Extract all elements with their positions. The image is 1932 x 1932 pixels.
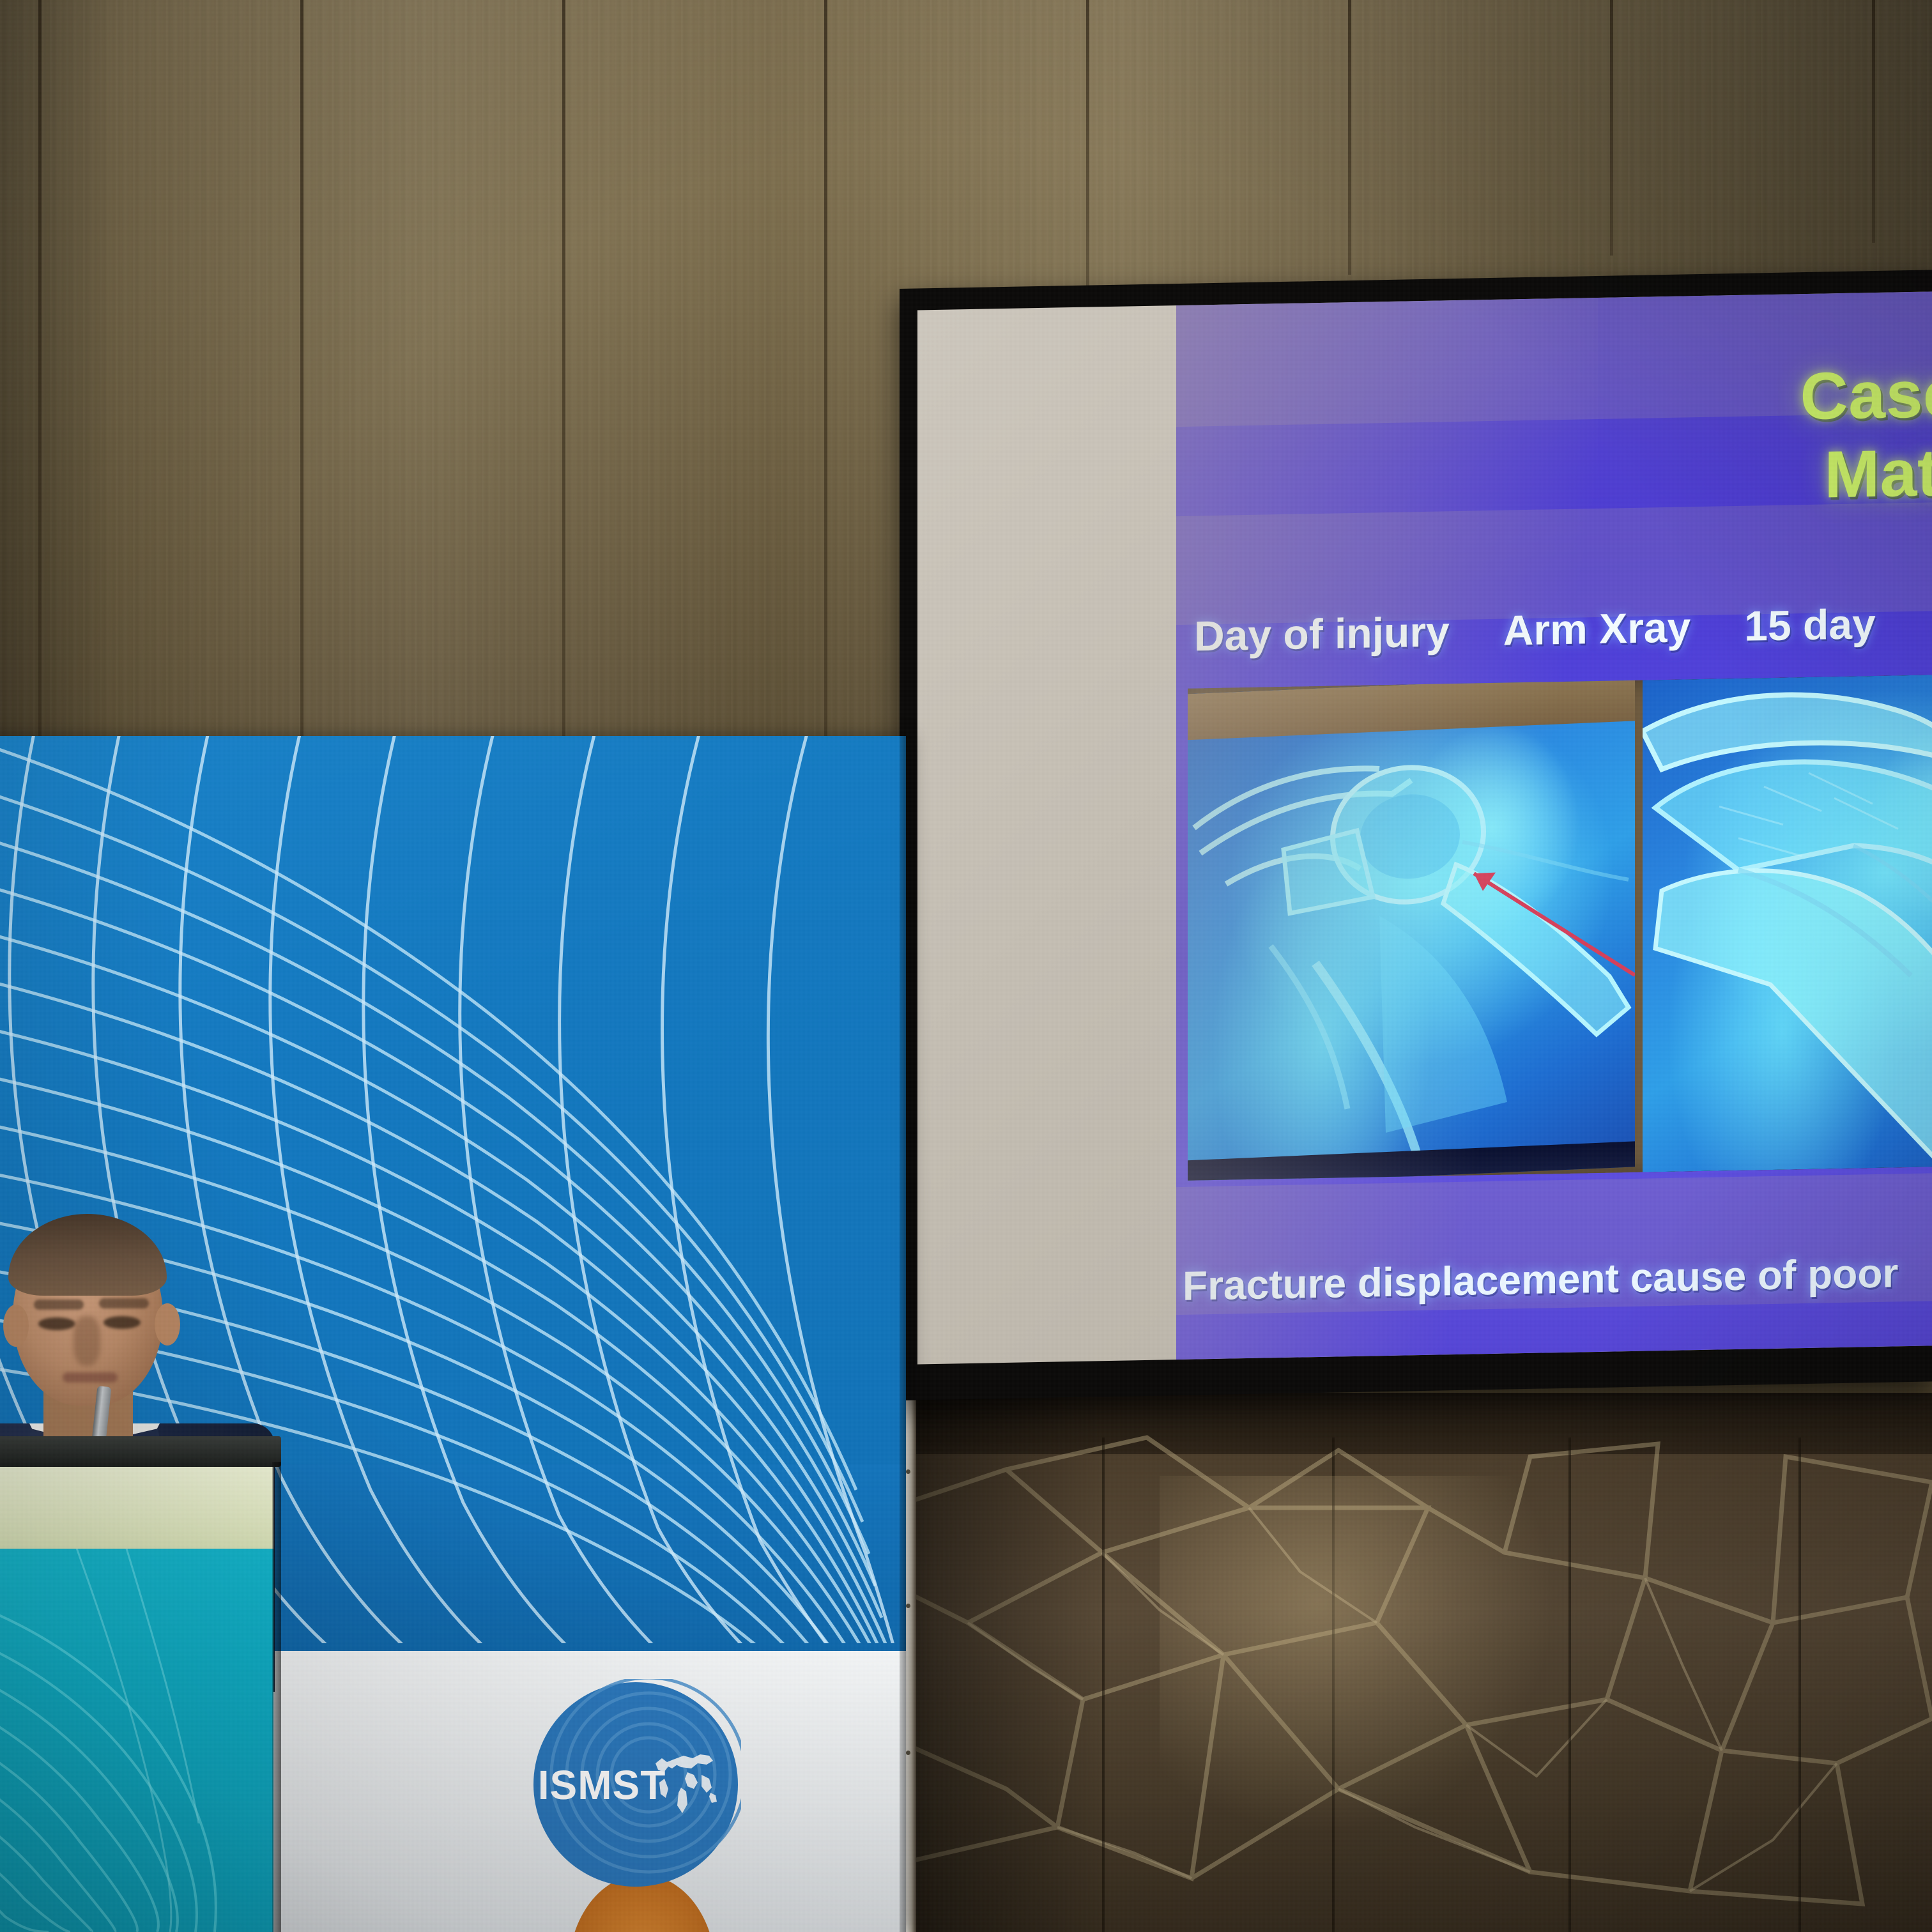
wall-light-hotspot xyxy=(1160,1476,1556,1834)
wall-panel-seam xyxy=(1086,0,1089,300)
wall-panel-seam xyxy=(1568,1437,1571,1932)
speaker-brow-right xyxy=(99,1298,149,1308)
slide-title-line-2: Materia xyxy=(1800,431,1932,515)
wall-lower-decorative xyxy=(891,1393,1932,1932)
xray-15-days xyxy=(1643,671,1932,1172)
podium-right-edge xyxy=(272,1462,281,1932)
wall-panel-seam xyxy=(562,0,565,792)
projection-screen-surface: Case rep Materia Day of injury Arm Xray … xyxy=(917,291,1932,1364)
podium-front-panel xyxy=(0,1549,273,1932)
speaker-nose xyxy=(73,1316,100,1366)
speaker-eye-left xyxy=(38,1317,75,1330)
podium-accent-band xyxy=(0,1467,273,1549)
podium-desktop xyxy=(0,1436,281,1467)
podium-swirl-graphic xyxy=(0,1549,273,1932)
wall-panel-seam xyxy=(300,0,303,792)
speaker-hair xyxy=(8,1214,167,1296)
speaker-mouth xyxy=(63,1372,118,1383)
wall-panel-seam xyxy=(1798,1437,1801,1932)
logo-text: ISMST xyxy=(538,1762,666,1808)
pole-bolt xyxy=(906,1469,910,1474)
ismst-logo: ISMST xyxy=(530,1679,741,1890)
speaker-eye-right xyxy=(103,1316,141,1329)
wall-shadow-left xyxy=(891,1393,1102,1932)
column-label-15-day: 15 day xyxy=(1744,599,1875,650)
slide-ambient-light-wash xyxy=(1176,291,1598,1360)
wall-panel-seam xyxy=(1348,0,1351,275)
wall-panel-seam xyxy=(824,0,827,792)
speaker-ear-right xyxy=(155,1303,180,1345)
speaker-ear-left xyxy=(3,1305,29,1347)
conference-photo-scene: Case rep Materia Day of injury Arm Xray … xyxy=(0,0,1932,1932)
lectern-podium xyxy=(0,1436,281,1932)
wall-panel-seam xyxy=(1102,1437,1105,1932)
presentation-slide: Case rep Materia Day of injury Arm Xray … xyxy=(1176,291,1932,1360)
wall-panel-seam xyxy=(38,0,42,792)
speaker-brow-left xyxy=(34,1299,84,1310)
xray-red-arrow-annotation xyxy=(1643,671,1932,1172)
slide-title: Case rep Materia xyxy=(1800,353,1932,515)
wall-panel-seam xyxy=(1610,0,1613,256)
pole-bolt xyxy=(906,1751,910,1755)
wall-panel-seam xyxy=(1872,0,1875,243)
pole-bolt xyxy=(906,1604,910,1608)
projection-screen-frame: Case rep Materia Day of injury Arm Xray … xyxy=(900,270,1932,1400)
banner-right-edge xyxy=(900,736,906,1932)
slide-title-line-1: Case rep xyxy=(1800,353,1932,436)
